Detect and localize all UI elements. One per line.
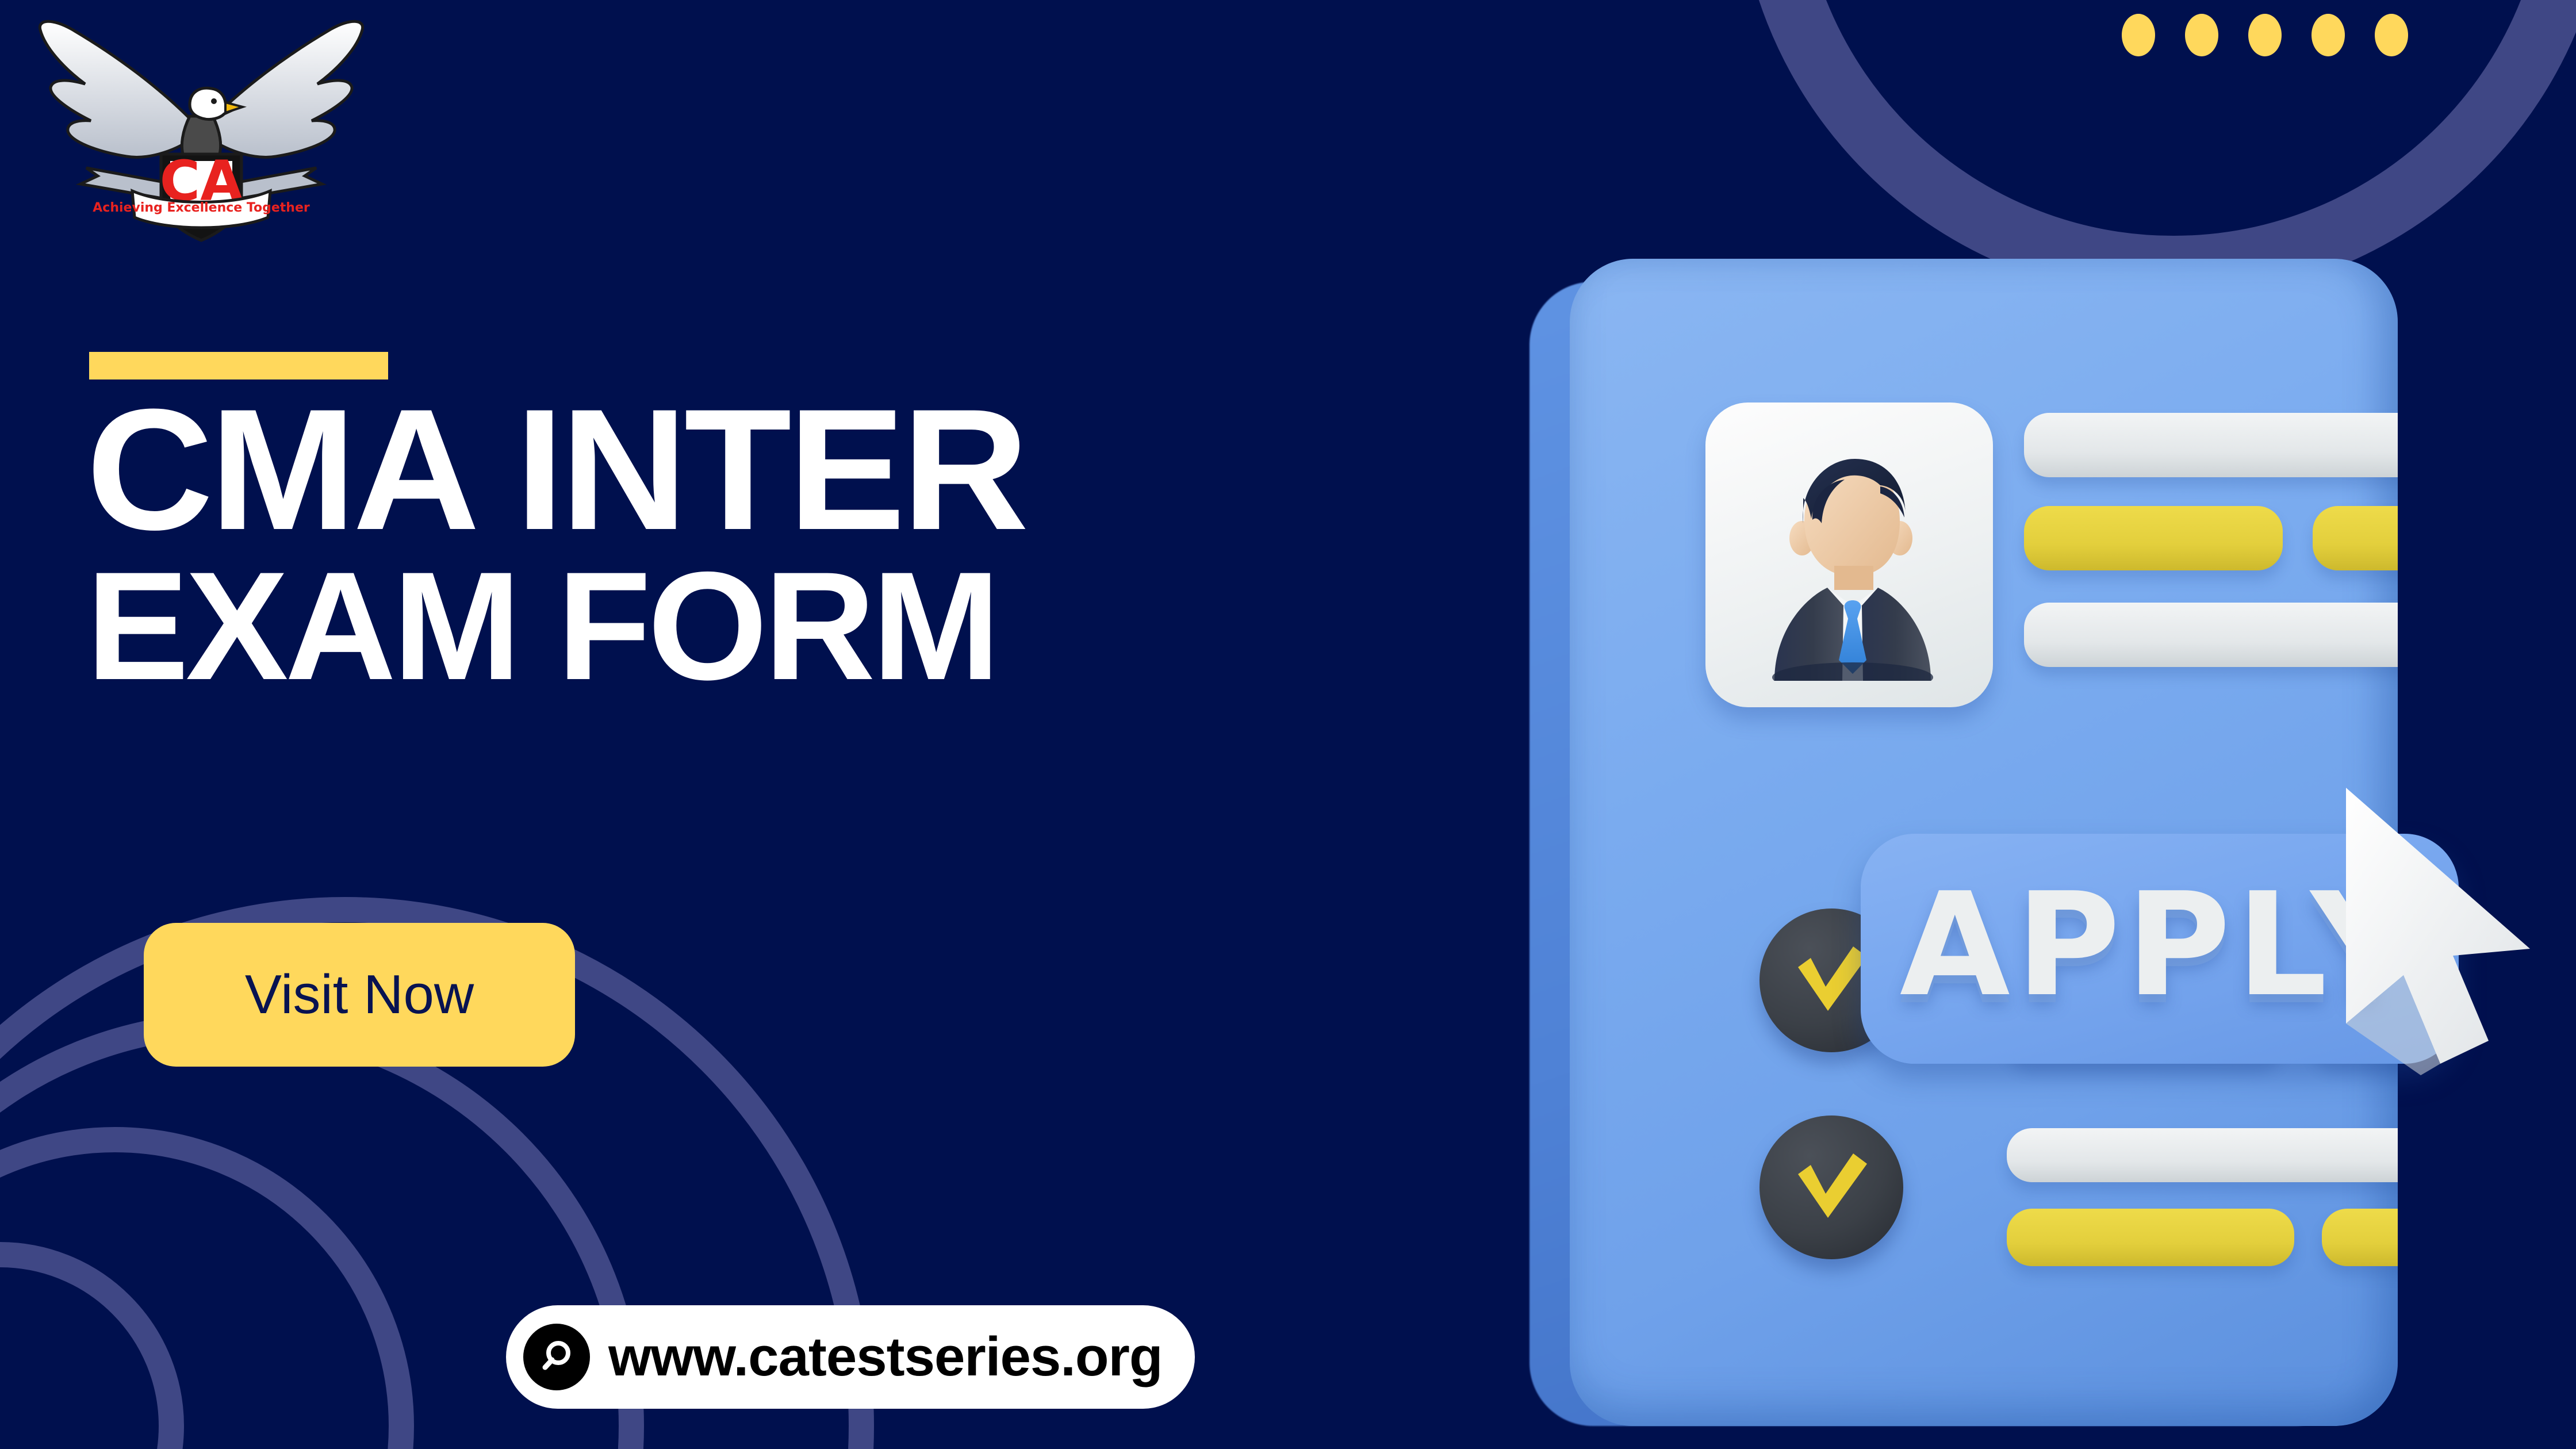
page-title-line-2: EXAM FORM — [86, 561, 1466, 691]
form-field-bar — [2313, 506, 2398, 570]
decor-dot — [2311, 14, 2345, 56]
decor-dot — [2122, 14, 2155, 56]
poster-canvas: CA Achieving Excellence Together CMA INT… — [0, 0, 2576, 1449]
checklist-bar — [2007, 1209, 2294, 1266]
user-avatar — [1740, 434, 1958, 681]
website-url-text: www.catestseries.org — [608, 1325, 1163, 1389]
decor-dots — [2122, 14, 2408, 56]
avatar-photo-frame — [1705, 402, 1993, 707]
decor-dot — [2248, 14, 2282, 56]
visit-now-button[interactable]: Visit Now — [144, 923, 575, 1067]
form-field-bar — [2024, 603, 2398, 667]
pointer-cursor-icon — [2334, 776, 2576, 1133]
checklist-item-check — [1759, 1115, 1903, 1259]
checklist-bar — [2322, 1209, 2398, 1266]
checkmark-icon — [1785, 1144, 1877, 1230]
page-title: CMA INTER EXAM FORM — [86, 397, 1466, 691]
decor-dot — [2375, 14, 2408, 56]
logo-banner-text: Achieving Excellence Together — [93, 201, 310, 215]
search-icon — [523, 1324, 590, 1390]
visit-now-button-label: Visit Now — [245, 963, 474, 1026]
form-field-bar — [2024, 506, 2283, 570]
website-url-pill[interactable]: www.catestseries.org — [506, 1305, 1195, 1409]
checklist-bar — [2007, 1128, 2398, 1182]
ca-eagle-logo: CA Achieving Excellence Together — [17, 3, 385, 245]
form-field-bar — [2024, 413, 2398, 477]
application-form-illustration: APPLY — [1512, 247, 2576, 1449]
page-title-line-1: CMA INTER — [86, 397, 1494, 542]
decor-dot — [2185, 14, 2218, 56]
